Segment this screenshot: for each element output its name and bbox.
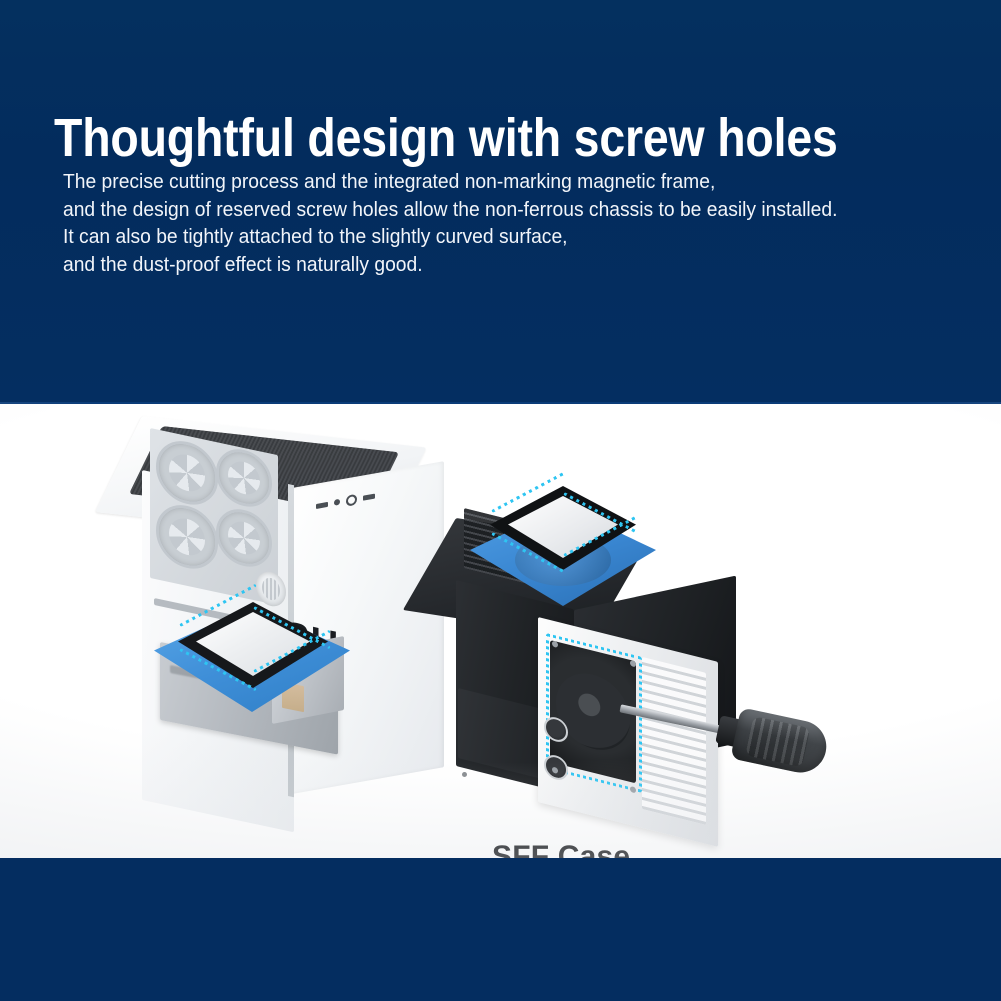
description-line-2: and the design of reserved screw holes a…: [63, 196, 937, 224]
screw-icon: [462, 772, 467, 777]
hero-description: The precise cutting process and the inte…: [63, 168, 993, 278]
hero-section: Thoughtful design with screw holes The p…: [0, 0, 1001, 402]
product-photo-band: PSU: [0, 402, 1001, 858]
psu-unit: [154, 598, 354, 733]
sff-top-fan: [470, 488, 660, 614]
case-fan-icon: [216, 504, 272, 572]
audio-jack-icon: [346, 493, 357, 506]
product-feature-slide: Thoughtful design with screw holes The p…: [0, 0, 1001, 1001]
usb-port-icon: [316, 501, 328, 508]
page-title: Thoughtful design with screw holes: [54, 110, 838, 167]
usb-port-icon: [363, 493, 375, 500]
case-fan-icon: [156, 435, 218, 510]
description-line-1: The precise cutting process and the inte…: [63, 168, 937, 196]
screwdriver-shaft: [619, 704, 730, 735]
screw-icon: [630, 786, 636, 793]
photo-top-rule: [0, 402, 1001, 404]
case-fan-icon: [156, 499, 218, 574]
description-line-3: It can also be tightly attached to the s…: [63, 223, 937, 251]
white-tower-case: PSU: [140, 412, 460, 822]
case-fan-icon: [216, 444, 272, 512]
description-line-4: and the dust-proof effect is naturally g…: [63, 251, 937, 279]
power-button-icon: [334, 499, 340, 506]
footer-band: [0, 858, 1001, 1001]
sff-case-label: SFF Case: [492, 840, 630, 858]
